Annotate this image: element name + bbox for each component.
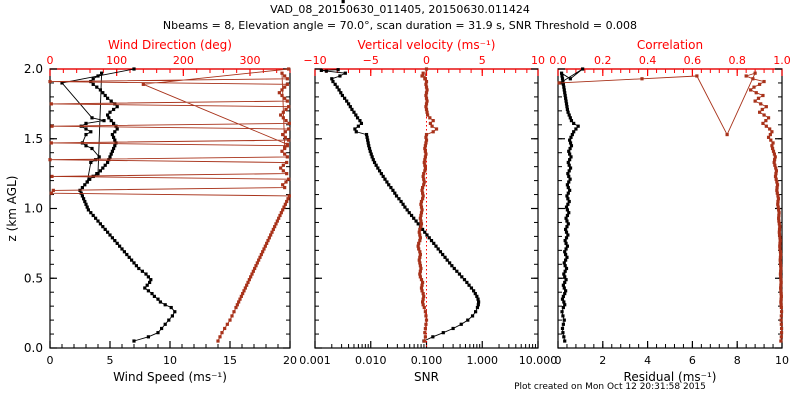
xticklabel-top: 0 [47, 54, 54, 67]
xaxis-label-left: Wind Speed (ms⁻¹) [113, 370, 227, 384]
xticklabel-top: 0.2 [594, 54, 612, 67]
panel-frame-right [558, 69, 782, 348]
xticklabel-top: 5 [479, 54, 486, 67]
xticklabel-bottom: 10.000 [519, 354, 558, 367]
yticklabel: 0.0 [24, 341, 43, 355]
xticklabel-bottom: 0.010 [355, 354, 387, 367]
xticklabel-top: 10 [531, 54, 545, 67]
yticklabel: 1.0 [24, 202, 43, 216]
plot-creation-timestamp: Plot created on Mon Oct 12 20:31:58 2015 [430, 382, 790, 392]
xticklabel-bottom: 6 [689, 354, 696, 367]
xticklabel-bottom: 0.100 [411, 354, 443, 367]
xticklabel-bottom: 5 [107, 354, 114, 367]
yticklabel: 0.5 [24, 271, 43, 285]
xticklabel-top: 200 [173, 54, 194, 67]
xticklabel-bottom: 0 [47, 354, 54, 367]
xticklabel-top: 0.8 [728, 54, 746, 67]
xticklabel-top: 0.4 [639, 54, 657, 67]
xticklabel-bottom: 1.000 [467, 354, 499, 367]
xaxis-label-top-middle: Vertical velocity (ms⁻¹) [358, 38, 496, 52]
xticklabel-bottom: 2 [599, 354, 606, 367]
xticklabel-top: −5 [363, 54, 379, 67]
xticklabel-top: 0 [423, 54, 430, 67]
series-line-snr [321, 70, 478, 341]
xticklabel-top: 0.0 [549, 54, 567, 67]
xticklabel-bottom: 4 [644, 354, 651, 367]
xticklabel-bottom: 20 [283, 354, 297, 367]
xticklabel-bottom: 10 [163, 354, 177, 367]
series-markers-vertical-velocity [417, 67, 439, 342]
series-markers-correlation [558, 72, 784, 343]
xticklabel-top: −10 [303, 54, 326, 67]
xticklabel-top: 300 [240, 54, 261, 67]
series-markers-wind-speed [60, 67, 176, 342]
xticklabel-bottom: 15 [223, 354, 237, 367]
xticklabel-bottom: 8 [734, 354, 741, 367]
vad-plot-figure: VAD_08_20150630_011405, 20150630.011424 … [0, 0, 800, 400]
series-line-correlation [559, 73, 782, 341]
xticklabel-top: 0.6 [684, 54, 702, 67]
xticklabel-top: 100 [106, 54, 127, 67]
xaxis-label-top-right: Correlation [637, 38, 703, 52]
yaxis-label: z (km AGL) [5, 176, 19, 242]
yticklabel: 1.5 [24, 132, 43, 146]
xaxis-label-top-left: Wind Direction (deg) [108, 38, 232, 52]
yticklabel: 2.0 [24, 62, 43, 76]
series-markers-residual [559, 67, 585, 342]
xticklabel-top: 1.0 [773, 54, 791, 67]
plot-canvas: 051015200100200300Wind Speed (ms⁻¹)Wind … [0, 0, 800, 400]
xticklabel-bottom: 0.001 [299, 354, 331, 367]
xticklabel-bottom: 10 [775, 354, 789, 367]
xticklabel-bottom: 0 [555, 354, 562, 367]
